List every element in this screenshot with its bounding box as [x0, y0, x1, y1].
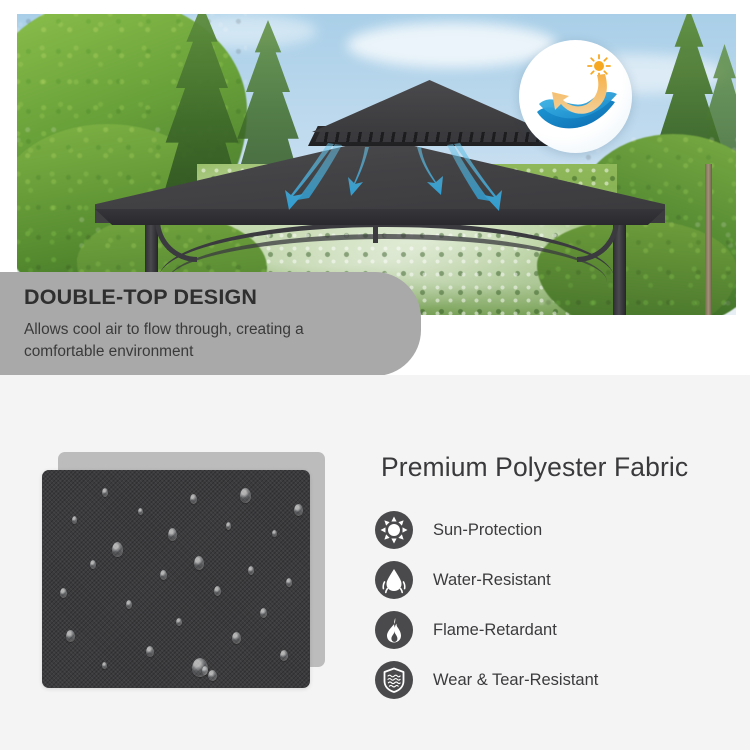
water-droplet	[194, 556, 204, 570]
water-droplet	[272, 530, 277, 537]
water-droplet	[168, 528, 177, 541]
water-droplet	[146, 646, 154, 657]
feature-item-sun-protection: Sun-Protection	[375, 505, 735, 555]
water-droplet	[112, 542, 123, 557]
water-droplet	[248, 566, 254, 575]
water-droplet	[176, 618, 182, 626]
water-droplet	[66, 630, 75, 642]
feature-item-wear-tear-resistant: Wear & Tear-Resistant	[375, 655, 735, 705]
feature-list: Sun-Protection Water-Resistant Flame-Ret…	[375, 505, 735, 705]
feature-label: Flame-Retardant	[433, 621, 557, 640]
water-droplet	[214, 586, 221, 596]
flame-icon	[375, 611, 413, 649]
callout-title: DOUBLE-TOP DESIGN	[24, 286, 391, 310]
water-droplet	[232, 632, 241, 644]
fabric-heading: Premium Polyester Fabric	[381, 452, 688, 483]
canopy-upper-tier	[312, 80, 547, 132]
water-droplet	[72, 516, 77, 524]
callout-card: DOUBLE-TOP DESIGN Allows cool air to flo…	[0, 272, 421, 376]
water-droplet	[240, 488, 251, 503]
callout-subtitle: Allows cool air to flow through, creatin…	[24, 319, 374, 363]
fabric-swatch	[42, 470, 310, 688]
water-droplet	[226, 522, 231, 530]
canopy-lower-edge	[95, 209, 665, 225]
water-droplet	[280, 650, 288, 661]
feature-label: Sun-Protection	[433, 521, 542, 540]
badge-graphic	[519, 40, 632, 153]
fabric-weave-texture	[42, 470, 310, 688]
water-droplet	[286, 578, 292, 587]
shield-icon	[375, 661, 413, 699]
water-droplet	[90, 560, 96, 569]
sun-icon	[588, 55, 610, 77]
water-droplet	[208, 670, 217, 681]
hero-photo	[17, 14, 736, 315]
feature-item-water-resistant: Water-Resistant	[375, 555, 735, 605]
water-droplet	[294, 504, 303, 516]
water-droplet	[60, 588, 67, 598]
water-droplet-large	[192, 658, 208, 677]
water-droplet	[126, 600, 132, 609]
feature-label: Water-Resistant	[433, 571, 551, 590]
water-droplet	[260, 608, 267, 618]
sun-icon	[375, 511, 413, 549]
heat-ventilation-badge	[519, 40, 632, 153]
water-droplet	[190, 494, 197, 504]
feature-label: Wear & Tear-Resistant	[433, 671, 598, 690]
water-droplet	[138, 508, 143, 515]
gazebo-corner-brace	[155, 220, 197, 262]
water-droplet	[160, 570, 167, 580]
water-droplet	[102, 488, 108, 497]
water-drop-icon	[375, 561, 413, 599]
feature-item-flame-retardant: Flame-Retardant	[375, 605, 735, 655]
water-droplet	[102, 662, 107, 669]
